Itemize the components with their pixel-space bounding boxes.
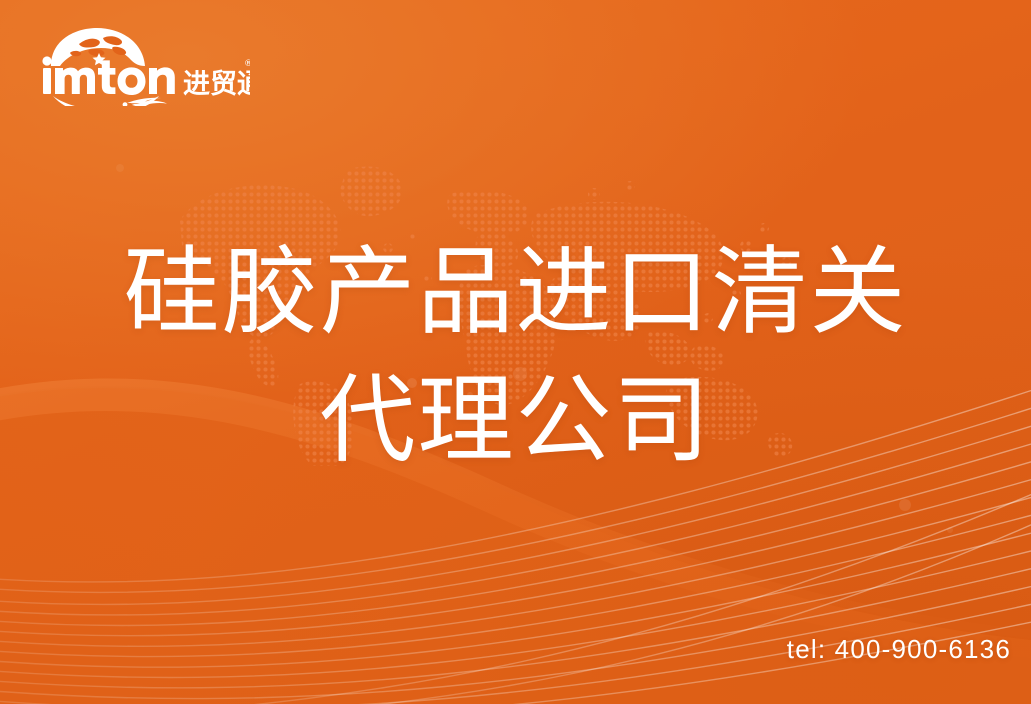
title-line-2: 代理公司 xyxy=(0,356,1031,484)
logo-trademark-symbol: ® xyxy=(244,59,250,69)
promo-banner: 进贸通 ® 硅胶产品进口清关 代理公司 tel: 400-900-6136 xyxy=(0,0,1031,704)
globe-arc-icon xyxy=(51,28,145,66)
brand-logo[interactable]: 进贸通 ® xyxy=(35,26,250,106)
title-line-1: 硅胶产品进口清关 xyxy=(0,228,1031,356)
swoosh-plane-icon xyxy=(53,96,167,106)
page-title: 硅胶产品进口清关 代理公司 xyxy=(0,228,1031,484)
logo-chinese-name: 进贸通 xyxy=(183,69,250,100)
contact-phone: tel: 400-900-6136 xyxy=(787,634,1011,665)
